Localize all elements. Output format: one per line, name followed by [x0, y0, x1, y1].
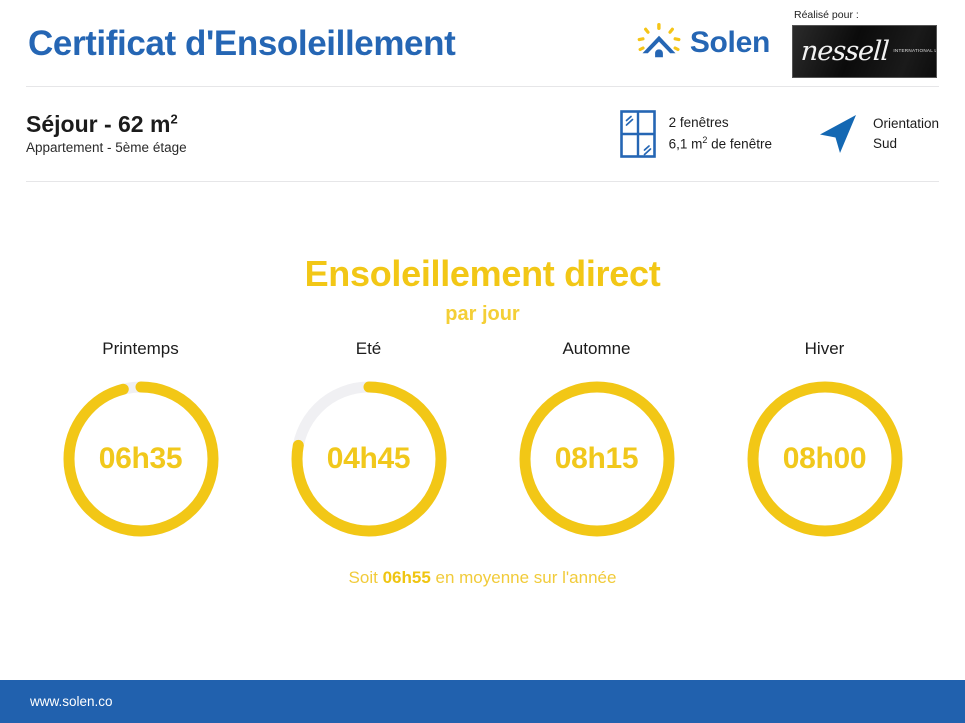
gauge-automne: Automne 08h15	[499, 340, 694, 543]
solen-sun-house-icon	[637, 23, 681, 63]
gauge-ete: Eté 04h45	[271, 340, 466, 543]
page-footer: www.solen.co	[0, 680, 965, 723]
windows-area-suffix: de fenêtre	[707, 136, 772, 151]
orientation-fact-text: Orientation Sud	[873, 116, 939, 153]
gauge-ring: 08h15	[513, 375, 681, 543]
header-right-group: Solen Réalisé pour : nessell INTERNATION…	[637, 0, 937, 86]
gauge-label: Hiver	[805, 340, 845, 357]
average-suffix: en moyenne sur l'année	[431, 568, 617, 587]
certificate-page: Certificat d'Ensoleillement	[0, 0, 965, 723]
orientation-label: Orientation	[873, 116, 939, 133]
room-area-exponent: 2	[170, 111, 177, 126]
gauge-value: 08h15	[513, 375, 681, 543]
yearly-average: Soit 06h55 en moyenne sur l'année	[0, 568, 965, 588]
realise-pour-label: Réalisé pour :	[792, 10, 859, 22]
section-subtitle: par jour	[0, 303, 965, 325]
gauge-label: Printemps	[102, 340, 179, 357]
orientation-value: Sud	[873, 136, 939, 153]
room-title-text: Séjour - 62 m	[26, 111, 170, 137]
windows-fact-text: 2 fenêtres 6,1 m2 de fenêtre	[669, 115, 772, 153]
property-info-band: Séjour - 62 m2 Appartement - 5ème étage	[0, 87, 965, 181]
page-header: Certificat d'Ensoleillement	[0, 0, 965, 86]
direction-arrow-icon	[816, 112, 860, 156]
partner-name: nessell	[800, 38, 889, 65]
gauge-hiver: Hiver 08h00	[727, 340, 922, 543]
gauge-value: 06h35	[57, 375, 225, 543]
gauge-printemps: Printemps 06h35	[43, 340, 238, 543]
property-identity: Séjour - 62 m2 Appartement - 5ème étage	[26, 112, 187, 156]
windows-area: 6,1 m2 de fenêtre	[669, 135, 772, 153]
seasonal-gauges: Printemps 06h35 Eté 04h45 Automne	[0, 340, 965, 543]
room-title: Séjour - 62 m2	[26, 112, 187, 136]
orientation-fact: Orientation Sud	[816, 112, 939, 156]
gauge-value: 04h45	[285, 375, 453, 543]
windows-count: 2 fenêtres	[669, 115, 772, 132]
partner-logo: nessell INTERNATIONAL LUXURY REAL ESTATE	[792, 25, 937, 78]
page-title: Certificat d'Ensoleillement	[28, 26, 455, 61]
gauge-ring: 04h45	[285, 375, 453, 543]
gauge-label: Automne	[562, 340, 630, 357]
info-divider	[26, 181, 939, 182]
property-facts: 2 fenêtres 6,1 m2 de fenêtre Orientation…	[620, 110, 939, 158]
partner-block: Réalisé pour : nessell INTERNATIONAL LUX…	[792, 8, 937, 78]
gauge-ring: 06h35	[57, 375, 225, 543]
windows-fact: 2 fenêtres 6,1 m2 de fenêtre	[620, 110, 772, 158]
footer-url[interactable]: www.solen.co	[30, 695, 113, 709]
average-value: 06h55	[383, 568, 431, 587]
gauge-value: 08h00	[741, 375, 909, 543]
gauge-ring: 08h00	[741, 375, 909, 543]
partner-tagline: INTERNATIONAL LUXURY REAL ESTATE	[893, 48, 937, 55]
average-prefix: Soit	[349, 568, 383, 587]
section-title: Ensoleillement direct	[0, 255, 965, 293]
brand-name: Solen	[690, 28, 770, 58]
windows-area-value: 6,1 m	[669, 136, 703, 151]
property-subtitle: Appartement - 5ème étage	[26, 141, 187, 156]
solen-brand: Solen	[637, 23, 770, 63]
gauge-label: Eté	[356, 340, 382, 357]
window-grid-icon	[620, 110, 656, 158]
